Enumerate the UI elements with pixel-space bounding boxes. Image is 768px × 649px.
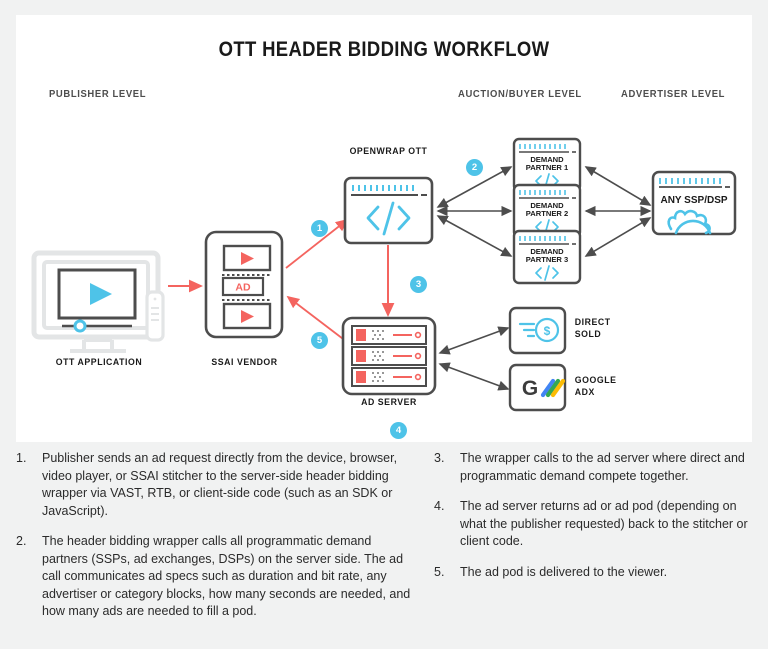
step-badge-1: 1 xyxy=(311,220,328,237)
step-number: 2. xyxy=(16,533,42,621)
page-root: OTT HEADER BIDDING WORKFLOW PUBLISHER LE… xyxy=(0,0,768,649)
ssai-vendor-icon: AD xyxy=(206,232,282,337)
ott-application-icon xyxy=(34,253,163,351)
demand-partner-1-line2: PARTNER 1 xyxy=(526,163,569,172)
arrow-partner1-to-sspdsp xyxy=(586,167,650,205)
caption-ssai-vendor: SSAI VENDOR xyxy=(205,357,283,368)
openwrap-ott-icon xyxy=(345,178,432,243)
ad-server-icon xyxy=(343,318,435,394)
step-number: 3. xyxy=(434,450,460,485)
demand-partner-2-line2: PARTNER 2 xyxy=(526,209,568,218)
step-number: 4. xyxy=(434,498,460,551)
demand-partner-2-icon: DEMAND PARTNER 2 xyxy=(514,185,580,237)
steps-column-left: 1. Publisher sends an ad request directl… xyxy=(16,450,416,634)
google-logo-letter: G xyxy=(522,377,538,400)
direct-sold-icon: $ xyxy=(510,308,565,353)
caption-direct-sold-line2: SOLD xyxy=(575,329,639,340)
step-number: 5. xyxy=(434,564,460,582)
google-adx-icon: G xyxy=(510,365,565,410)
step-text: The ad server returns ad or ad pod (depe… xyxy=(460,498,752,551)
step-text: The ad pod is delivered to the viewer. xyxy=(460,564,752,582)
step-badge-4: 4 xyxy=(390,422,407,439)
step-text: The header bidding wrapper calls all pro… xyxy=(42,533,416,621)
ssai-ad-label: AD xyxy=(235,282,251,294)
step-text: Publisher sends an ad request directly f… xyxy=(42,450,416,520)
diagram-card: OTT HEADER BIDDING WORKFLOW PUBLISHER LE… xyxy=(16,15,752,442)
demand-partner-3-icon: DEMAND PARTNER 3 xyxy=(514,231,580,283)
caption-google-adx-line1: GOOGLE xyxy=(575,375,639,386)
step-badge-5: 5 xyxy=(311,332,328,349)
caption-ott-application: OTT APPLICATION xyxy=(53,357,145,368)
arrow-partner3-to-sspdsp xyxy=(586,218,650,256)
caption-ad-server: AD SERVER xyxy=(348,397,431,408)
demand-partner-1-icon: DEMAND PARTNER 1 xyxy=(514,139,580,191)
caption-google-adx-line2: ADX xyxy=(575,387,639,398)
list-item: 1. Publisher sends an ad request directl… xyxy=(16,450,416,520)
step-text: The wrapper calls to the ad server where… xyxy=(460,450,752,485)
any-ssp-dsp-icon: ANY SSP/DSP xyxy=(653,172,735,234)
steps-list: 1. Publisher sends an ad request directl… xyxy=(16,450,752,640)
caption-openwrap-ott: OPENWRAP OTT xyxy=(340,146,437,157)
step-number: 1. xyxy=(16,450,42,520)
svg-text:$: $ xyxy=(544,324,551,338)
any-ssp-dsp-label: ANY SSP/DSP xyxy=(660,195,727,206)
arrow-openwrap-partner-3 xyxy=(438,216,511,256)
list-item: 3. The wrapper calls to the ad server wh… xyxy=(434,450,752,485)
list-item: 5. The ad pod is delivered to the viewer… xyxy=(434,564,752,582)
demand-partner-3-line2: PARTNER 3 xyxy=(526,255,568,264)
workflow-diagram: AD xyxy=(16,15,752,442)
step-badge-3: 3 xyxy=(410,276,427,293)
list-item: 4. The ad server returns ad or ad pod (d… xyxy=(434,498,752,551)
arrow-adserver-to-google-adx xyxy=(440,364,508,389)
caption-direct-sold-line1: DIRECT xyxy=(575,317,639,328)
steps-column-right: 3. The wrapper calls to the ad server wh… xyxy=(434,450,752,594)
step-badge-2: 2 xyxy=(466,159,483,176)
list-item: 2. The header bidding wrapper calls all … xyxy=(16,533,416,621)
arrow-adserver-to-direct-sold xyxy=(440,328,508,353)
